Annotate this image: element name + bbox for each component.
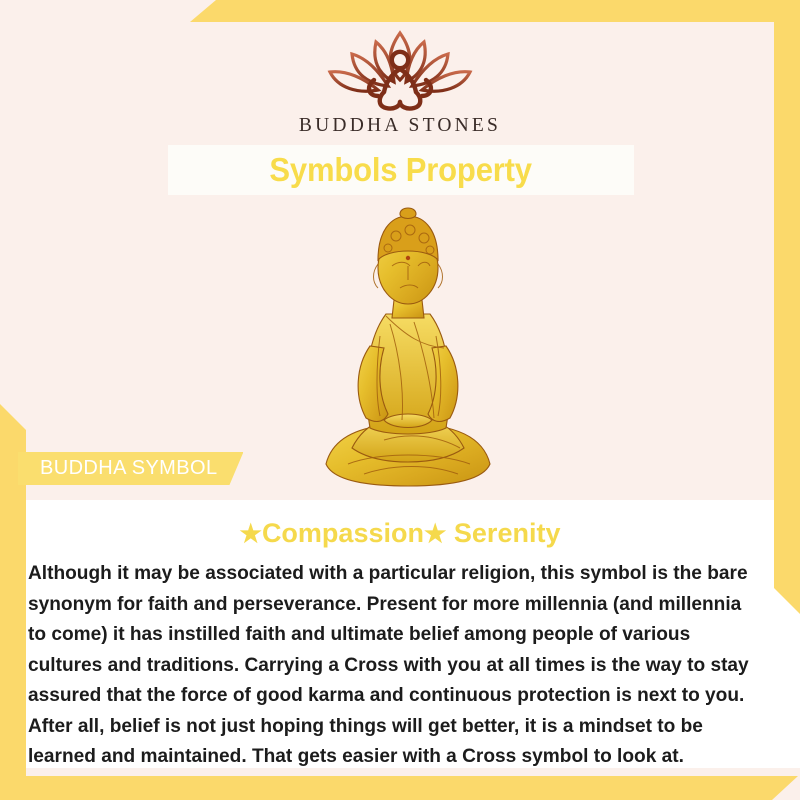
- star-icon-right: ★: [424, 520, 446, 548]
- lotus-meditation-icon: [312, 24, 488, 112]
- page-title: Symbols Property: [270, 151, 532, 189]
- attributes-subtitle: ★Compassion★ Serenity: [0, 518, 800, 549]
- frame-bar-top: [190, 0, 800, 22]
- hero-image: [318, 196, 498, 496]
- golden-seated-buddha-statue-icon: [318, 196, 498, 496]
- ribbon-label: BUDDHA SYMBOL: [40, 457, 217, 480]
- title-banner: Symbols Property: [168, 145, 634, 195]
- attribute-serenity: Serenity: [454, 518, 561, 548]
- star-icon-left: ★: [240, 520, 262, 548]
- buddha-symbol-ribbon: BUDDHA SYMBOL: [18, 452, 243, 485]
- body-paragraph: Although it may be associated with a par…: [28, 558, 761, 772]
- frame-bar-bottom: [0, 776, 798, 800]
- attribute-compassion: Compassion: [262, 518, 424, 548]
- brand-logo: BUDDHA STONES: [0, 24, 800, 137]
- poster-canvas: BUDDHA STONES Symbols Property: [0, 0, 800, 800]
- brand-wordmark: BUDDHA STONES: [0, 115, 800, 137]
